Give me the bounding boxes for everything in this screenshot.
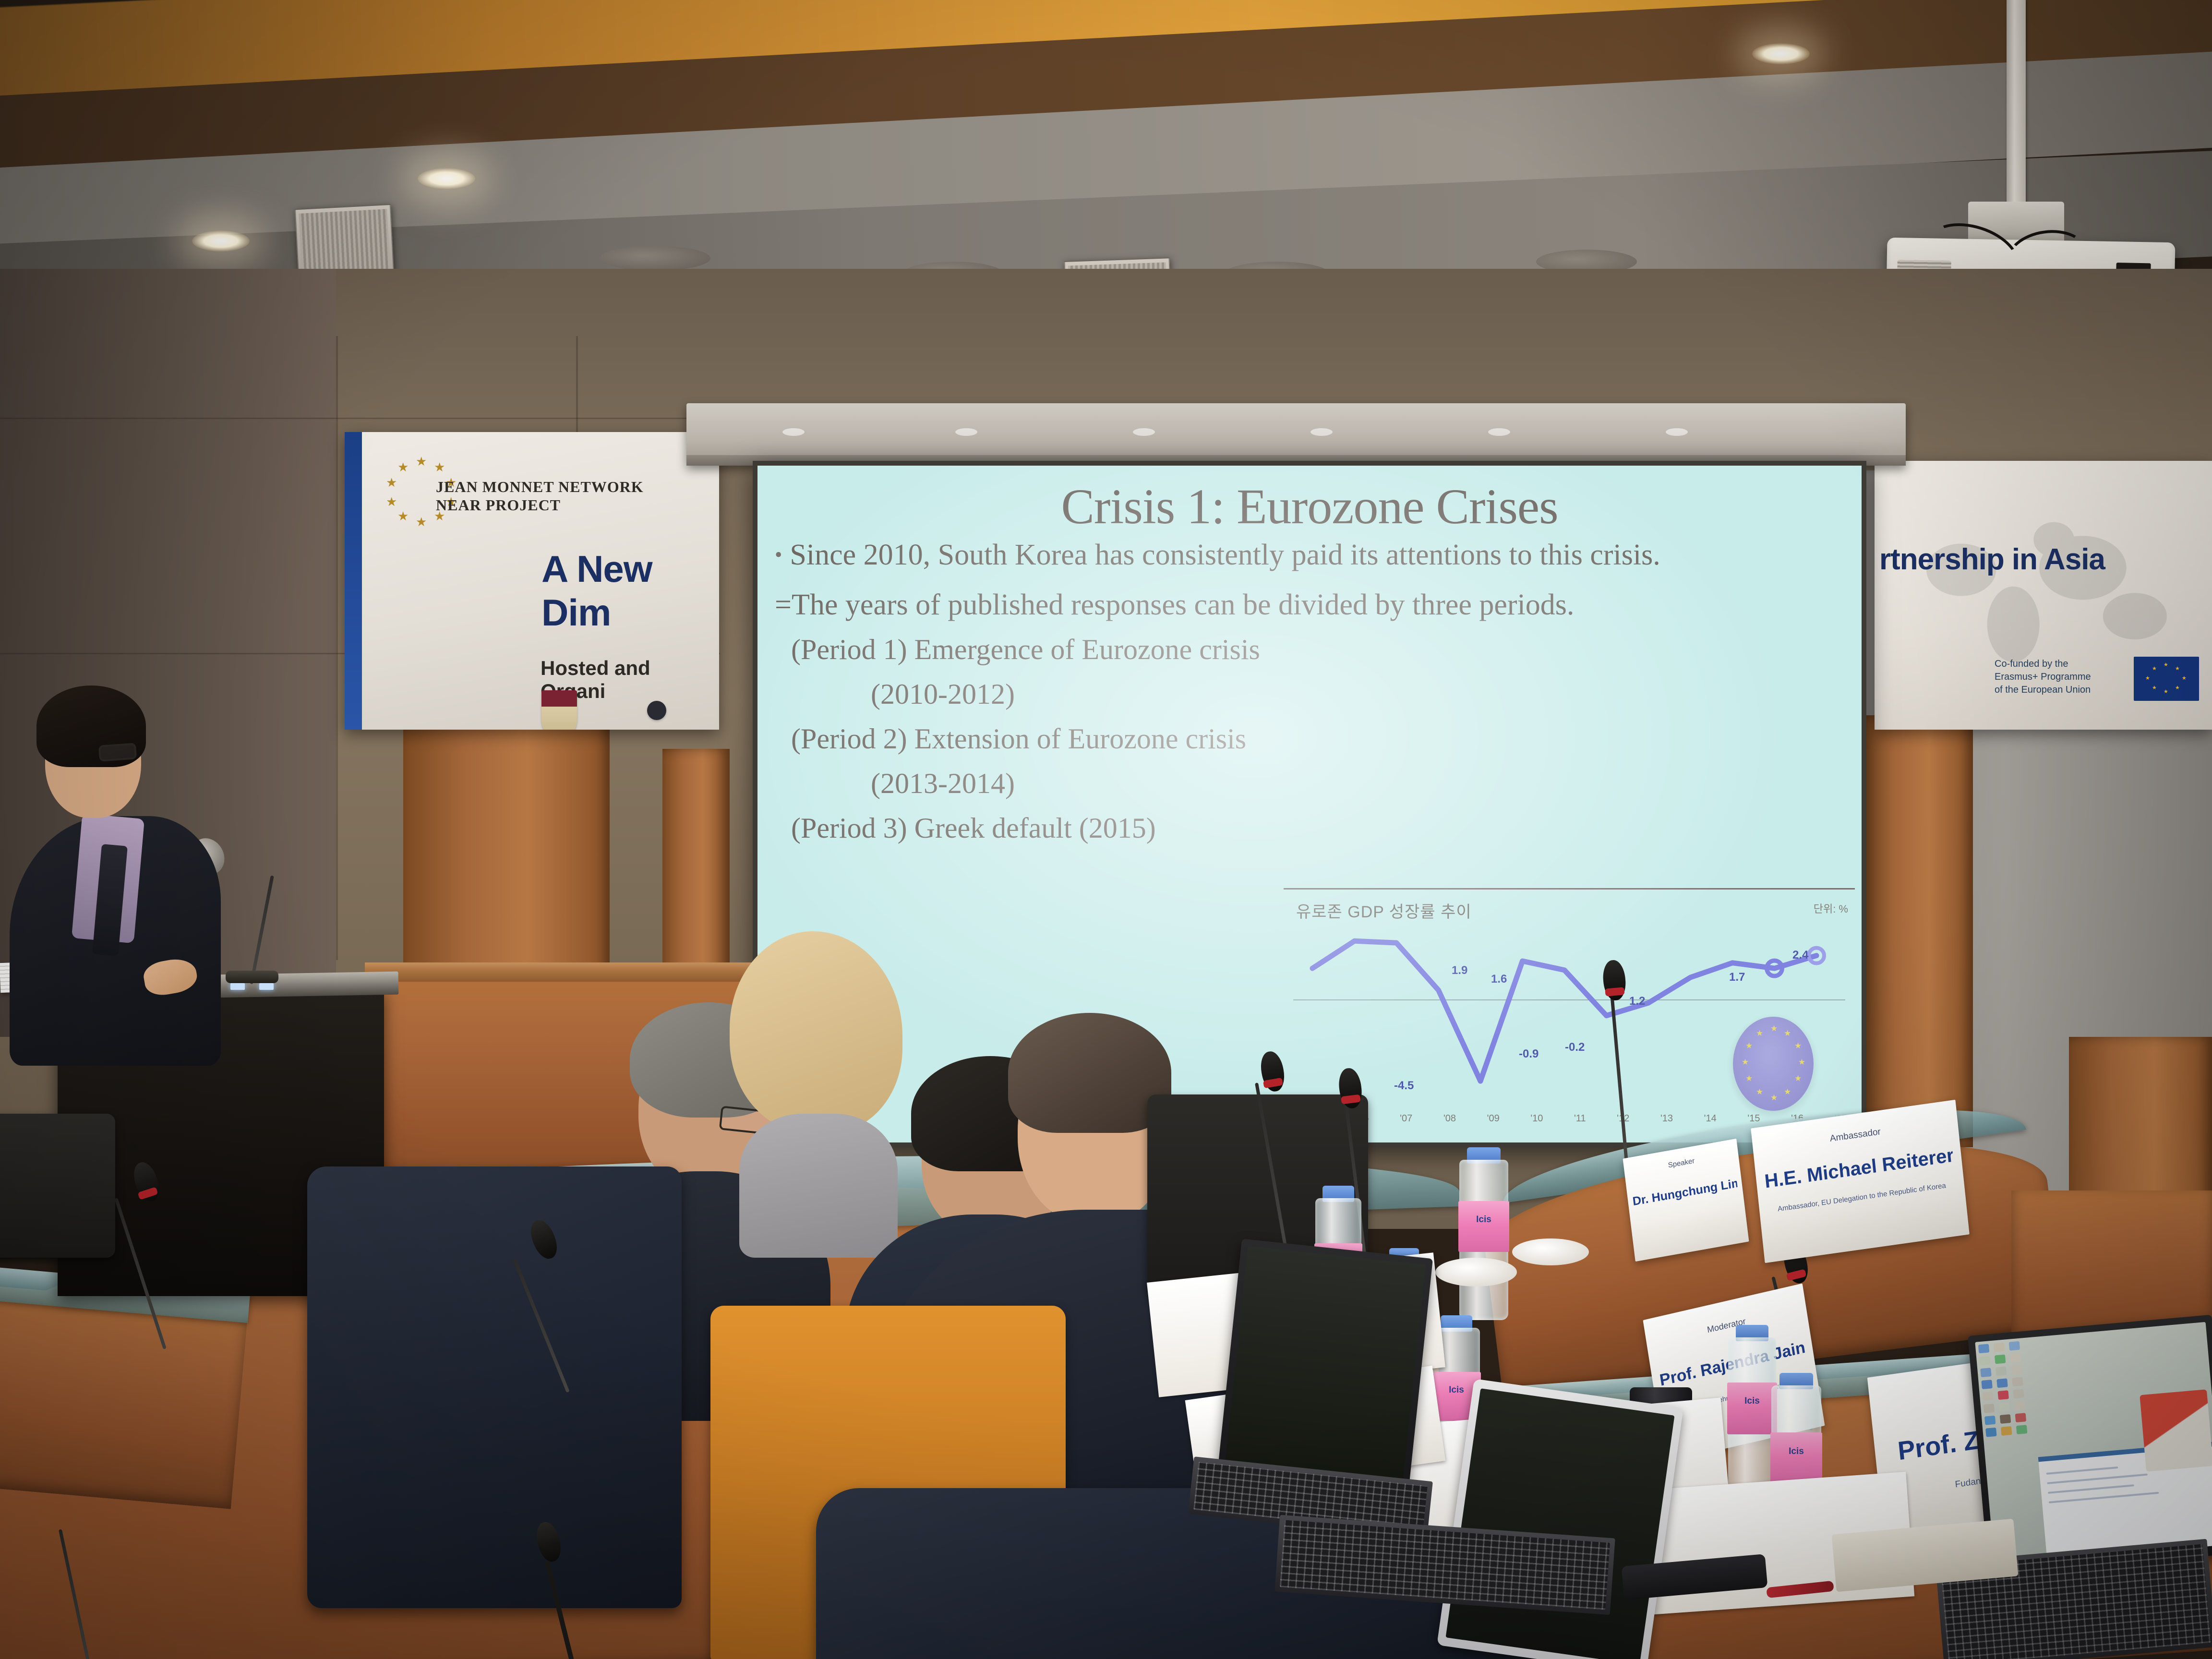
- chart-x-tick: '11: [1574, 1113, 1586, 1127]
- bottle-label: Icis: [1770, 1432, 1822, 1485]
- chart-data-label: 2.4: [1792, 949, 1808, 962]
- projector-mount-pole: [2007, 0, 2026, 211]
- banner-left: ★ ★ ★ ★ ★ ★ ★ ★ ★ ★ JEAN MONNET NETWORK …: [345, 432, 719, 730]
- projection-screen-housing: [686, 403, 1906, 466]
- chart-data-label: 1.6: [1491, 973, 1507, 986]
- slide-body: • Since 2010, South Korea has consistent…: [775, 538, 1850, 846]
- laptop-mid-screen: [1225, 1246, 1426, 1487]
- cofund-line-1: Co-funded by the: [1995, 658, 2091, 671]
- banner-kicker-line1: JEAN MONNET NETWORK: [436, 478, 644, 496]
- chart-x-tick: '13: [1660, 1113, 1673, 1127]
- chart-data-label: 1.9: [1452, 964, 1467, 977]
- wall-pillar: [1863, 715, 1973, 1147]
- bottle-label: Icis: [1458, 1201, 1509, 1252]
- desktop-icons[interactable]: [1978, 1341, 2028, 1437]
- water-bottle: Icis: [1459, 1147, 1508, 1320]
- placard-name: Dr. Hungchung Lim: [1632, 1177, 1738, 1209]
- saucer: [1512, 1238, 1589, 1265]
- conference-room-photo: ★ ★ ★ ★ ★ ★ ★ ★ ★ ★ JEAN MONNET NETWORK …: [0, 0, 2212, 1659]
- saucer: [1435, 1258, 1517, 1286]
- laptop-mid[interactable]: [1217, 1238, 1433, 1497]
- cofund-line-3: of the European Union: [1995, 684, 2091, 697]
- organizer-logo: [647, 701, 666, 720]
- chair-left: [0, 1114, 115, 1258]
- banner-right: rtnership in Asia Co-funded by the Erasm…: [1875, 461, 2212, 730]
- chart-data-label: -0.2: [1565, 1041, 1585, 1054]
- attendee-4-hair: [1008, 1013, 1171, 1133]
- university-crest-icon: [541, 690, 577, 730]
- cofunding-note: Co-funded by the Erasmus+ Programme of t…: [1995, 658, 2091, 697]
- banner-title-right: rtnership in Asia: [1879, 542, 2105, 577]
- slide-line-2: =The years of published responses can be…: [775, 587, 1850, 623]
- ceiling-downlight: [418, 168, 475, 189]
- person-speaker-at-podium: [5, 672, 274, 1046]
- tablet-screen: [1446, 1388, 1675, 1659]
- slide-bullet-1-text: Since 2010, South Korea has consistently…: [790, 538, 1660, 573]
- side-table-left-top: [365, 962, 754, 982]
- bottle-brand: Icis: [1458, 1214, 1509, 1225]
- banner-accent-stripe: [345, 432, 362, 730]
- placard-affil: [1635, 1204, 1740, 1223]
- cofund-line-2: Erasmus+ Programme: [1995, 671, 2091, 684]
- chart-x-tick: '10: [1530, 1113, 1543, 1127]
- placard-ambassador: Ambassador H.E. Michael Reiterer Ambassa…: [1751, 1100, 1970, 1263]
- placard-speaker: Speaker Dr. Hungchung Lim: [1623, 1139, 1749, 1262]
- bottle-brand: Icis: [1770, 1446, 1822, 1457]
- slide-period-2: (Period 2) Extension of Eurozone crisis: [775, 721, 1850, 757]
- banner-title-left: A New Dim: [541, 547, 719, 635]
- ceiling-vent: [600, 246, 710, 271]
- slide-period-1: (Period 1) Emergence of Eurozone crisis: [775, 632, 1850, 668]
- wallpaper-graphic: [2140, 1389, 2212, 1472]
- speaker-glasses-icon: [98, 743, 137, 761]
- slide-period-1-years: (2010-2012): [775, 676, 1850, 712]
- slide-title: Crisis 1: Eurozone Crises: [757, 478, 1862, 535]
- chart-x-tick: '08: [1443, 1113, 1456, 1127]
- slide-period-3: (Period 3) Greek default (2015): [775, 810, 1850, 846]
- chart-x-tick: '09: [1487, 1113, 1500, 1127]
- water-bottle: Icis: [1728, 1325, 1776, 1498]
- chart-title: 유로존 GDP 성장률 추이: [1296, 899, 1472, 922]
- chart-data-label: 1.2: [1629, 995, 1645, 1008]
- tablet-device[interactable]: [1437, 1379, 1683, 1659]
- chart-unit-label: 단위: %: [1814, 901, 1848, 916]
- slide-bullet-1: • Since 2010, South Korea has consistent…: [775, 538, 1850, 573]
- bottle-label: Icis: [1727, 1382, 1777, 1434]
- bullet-icon: •: [775, 538, 782, 565]
- coat-on-chair: [307, 1166, 682, 1608]
- chart-x-tick: '14: [1704, 1113, 1717, 1127]
- slide-period-2-years: (2013-2014): [775, 766, 1850, 802]
- bottle-brand: Icis: [1727, 1396, 1777, 1407]
- eu-emblem-icon: ★ ★ ★ ★ ★ ★ ★ ★ ★ ★ ★ ★: [1733, 1017, 1814, 1111]
- ceiling-downlight: [1752, 43, 1810, 64]
- ceiling-downlight: [192, 230, 250, 252]
- chart-top-rule: [1284, 888, 1855, 890]
- chart-data-label: -0.9: [1519, 1047, 1539, 1061]
- eu-flag-icon: ★ ★ ★ ★ ★ ★ ★ ★: [2134, 657, 2199, 701]
- banner-kicker-line2: NEAR PROJECT: [436, 496, 561, 514]
- chart-data-label: 1.7: [1729, 971, 1745, 984]
